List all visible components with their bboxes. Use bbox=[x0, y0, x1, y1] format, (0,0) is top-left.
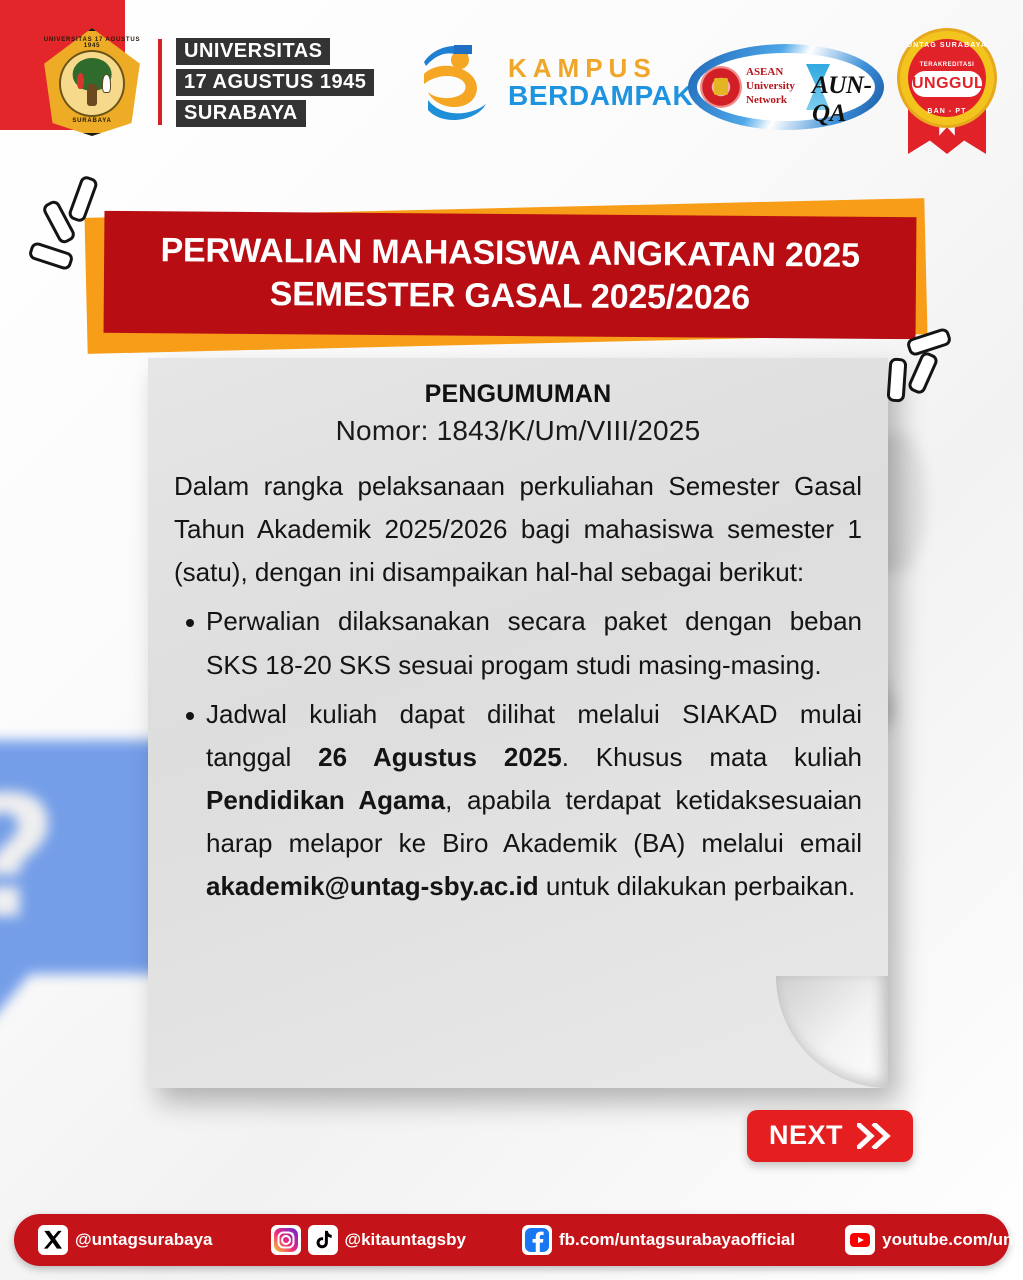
emphasis-text: 26 Agustus 2025 bbox=[318, 742, 562, 772]
social-facebook[interactable]: fb.com/untagsurabayaofficial bbox=[522, 1225, 795, 1255]
next-button-label: NEXT bbox=[769, 1120, 843, 1151]
banpt-accreditation-seal: UNTAG SURABAYA TERAKREDITASI UNGGUL BAN … bbox=[888, 28, 1006, 154]
tiktok-handle: @kitauntagsby bbox=[345, 1230, 466, 1250]
next-button[interactable]: NEXT bbox=[747, 1110, 913, 1162]
banpt-top-text: UNTAG SURABAYA bbox=[900, 42, 994, 49]
kampus-word: KAMPUS bbox=[508, 55, 693, 82]
logo-divider bbox=[158, 39, 162, 125]
aun-qa-logo: ASEAN University Network AUN-QA bbox=[688, 44, 884, 130]
x-twitter-icon bbox=[38, 1225, 68, 1255]
emphasis-text: Pendidikan Agama bbox=[206, 785, 445, 815]
asean-line-2: University bbox=[746, 79, 795, 93]
facebook-handle: fb.com/untagsurabayaofficial bbox=[559, 1230, 795, 1250]
university-name-block: UNIVERSITAS 17 AGUSTUS 1945 SURABAYA bbox=[176, 38, 374, 127]
poster-canvas: ? UNIVERSITAS 17 AGUSTUS 1945 SURABAYA U… bbox=[0, 0, 1023, 1280]
university-name-line-1: UNIVERSITAS bbox=[176, 38, 330, 65]
banpt-bottom-text: BAN - PT bbox=[900, 108, 994, 115]
announcement-intro-paragraph: Dalam rangka pelaksanaan perkuliahan Sem… bbox=[174, 465, 862, 594]
asean-line-1: ASEAN bbox=[746, 65, 795, 79]
kampus-berdampak-logo: KAMPUS BERDAMPAK bbox=[418, 40, 693, 126]
title-banner: PERWALIAN MAHASISWA ANGKATAN 2025 SEMEST… bbox=[86, 200, 926, 350]
banpt-grade-badge: UNGGUL bbox=[912, 71, 982, 97]
aun-qa-label: AUN-QA bbox=[812, 72, 884, 128]
berdampak-word: BERDAMPAK bbox=[508, 82, 693, 111]
social-tiktok[interactable]: @kitauntagsby bbox=[308, 1225, 466, 1255]
page-header: UNIVERSITAS 17 AGUSTUS 1945 SURABAYA UNI… bbox=[0, 0, 1023, 160]
university-name-line-2: 17 AGUSTUS 1945 bbox=[176, 69, 374, 96]
double-chevron-right-icon bbox=[857, 1123, 891, 1149]
social-instagram[interactable] bbox=[271, 1225, 301, 1255]
untag-seal-icon: UNIVERSITAS 17 AGUSTUS 1945 SURABAYA bbox=[40, 28, 144, 136]
announcement-bullet-item: Perwalian dilaksanakan secara paket deng… bbox=[174, 600, 862, 686]
asean-line-3: Network bbox=[746, 93, 795, 107]
emphasis-text: akademik@untag-sby.ac.id bbox=[206, 871, 539, 901]
instagram-icon bbox=[271, 1225, 301, 1255]
announcement-card: PENGUMUMAN Nomor: 1843/K/Um/VIII/2025 Da… bbox=[148, 358, 888, 1088]
x-handle: @untagsurabaya bbox=[75, 1230, 213, 1250]
title-line-2: SEMESTER GASAL 2025/2026 bbox=[270, 275, 751, 318]
tiktok-icon bbox=[308, 1225, 338, 1255]
title-line-1: PERWALIAN MAHASISWA ANGKATAN 2025 bbox=[160, 231, 860, 275]
seal-bottom-text: SURABAYA bbox=[40, 118, 144, 124]
body-text: . Khusus mata kuliah bbox=[562, 742, 862, 772]
svg-text:?: ? bbox=[0, 760, 59, 956]
announcement-bullet-item: Jadwal kuliah dapat dilihat melalui SIAK… bbox=[174, 693, 862, 909]
announcement-heading: PENGUMUMAN bbox=[174, 380, 862, 409]
university-logo-lockup: UNIVERSITAS 17 AGUSTUS 1945 SURABAYA UNI… bbox=[40, 28, 374, 136]
social-footer: @untagsurabaya bbox=[14, 1214, 1009, 1266]
asean-seal-icon bbox=[700, 66, 742, 108]
social-youtube[interactable]: youtube.com/untagsurabaya bbox=[845, 1225, 1023, 1255]
body-text: untuk dilakukan perbaikan. bbox=[539, 871, 856, 901]
announcement-bullet-list: Perwalian dilaksanakan secara paket deng… bbox=[174, 600, 862, 908]
banpt-accredited-text: TERAKREDITASI bbox=[900, 62, 994, 68]
youtube-icon bbox=[845, 1225, 875, 1255]
title-red-panel: PERWALIAN MAHASISWA ANGKATAN 2025 SEMEST… bbox=[104, 211, 917, 339]
announcement-number: Nomor: 1843/K/Um/VIII/2025 bbox=[174, 415, 862, 447]
kampus-berdampak-mark-icon bbox=[418, 40, 496, 126]
asean-university-network-text: ASEAN University Network bbox=[746, 65, 795, 107]
body-text: Perwalian dilaksanakan secara paket deng… bbox=[206, 606, 862, 679]
seal-top-text: UNIVERSITAS 17 AGUSTUS 1945 bbox=[40, 37, 144, 49]
announcement-body: Dalam rangka pelaksanaan perkuliahan Sem… bbox=[174, 465, 862, 909]
university-name-line-3: SURABAYA bbox=[176, 100, 306, 127]
social-x[interactable]: @untagsurabaya bbox=[38, 1225, 213, 1255]
youtube-handle: youtube.com/untagsurabaya bbox=[882, 1230, 1023, 1250]
facebook-icon bbox=[522, 1225, 552, 1255]
